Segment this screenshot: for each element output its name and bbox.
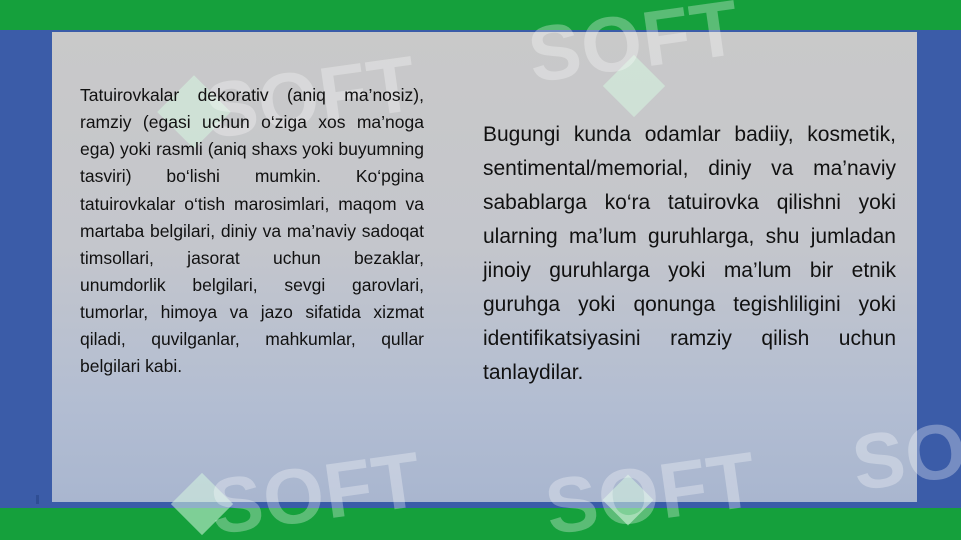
corner-tick-mark	[36, 495, 39, 504]
slide-canvas: SOFT SOFT SOFT SOFT SOFT Tatuirovkalar d…	[0, 0, 961, 540]
right-text-column: Bugungi kunda odamlar badiiy, kosmetik, …	[483, 118, 896, 390]
left-blue-panel	[0, 30, 52, 508]
left-text-column: Tatuirovkalar dekorativ (aniq ma’nosiz),…	[80, 82, 424, 380]
top-green-band	[0, 0, 961, 30]
right-blue-panel	[917, 30, 961, 508]
bottom-green-band	[0, 508, 961, 540]
